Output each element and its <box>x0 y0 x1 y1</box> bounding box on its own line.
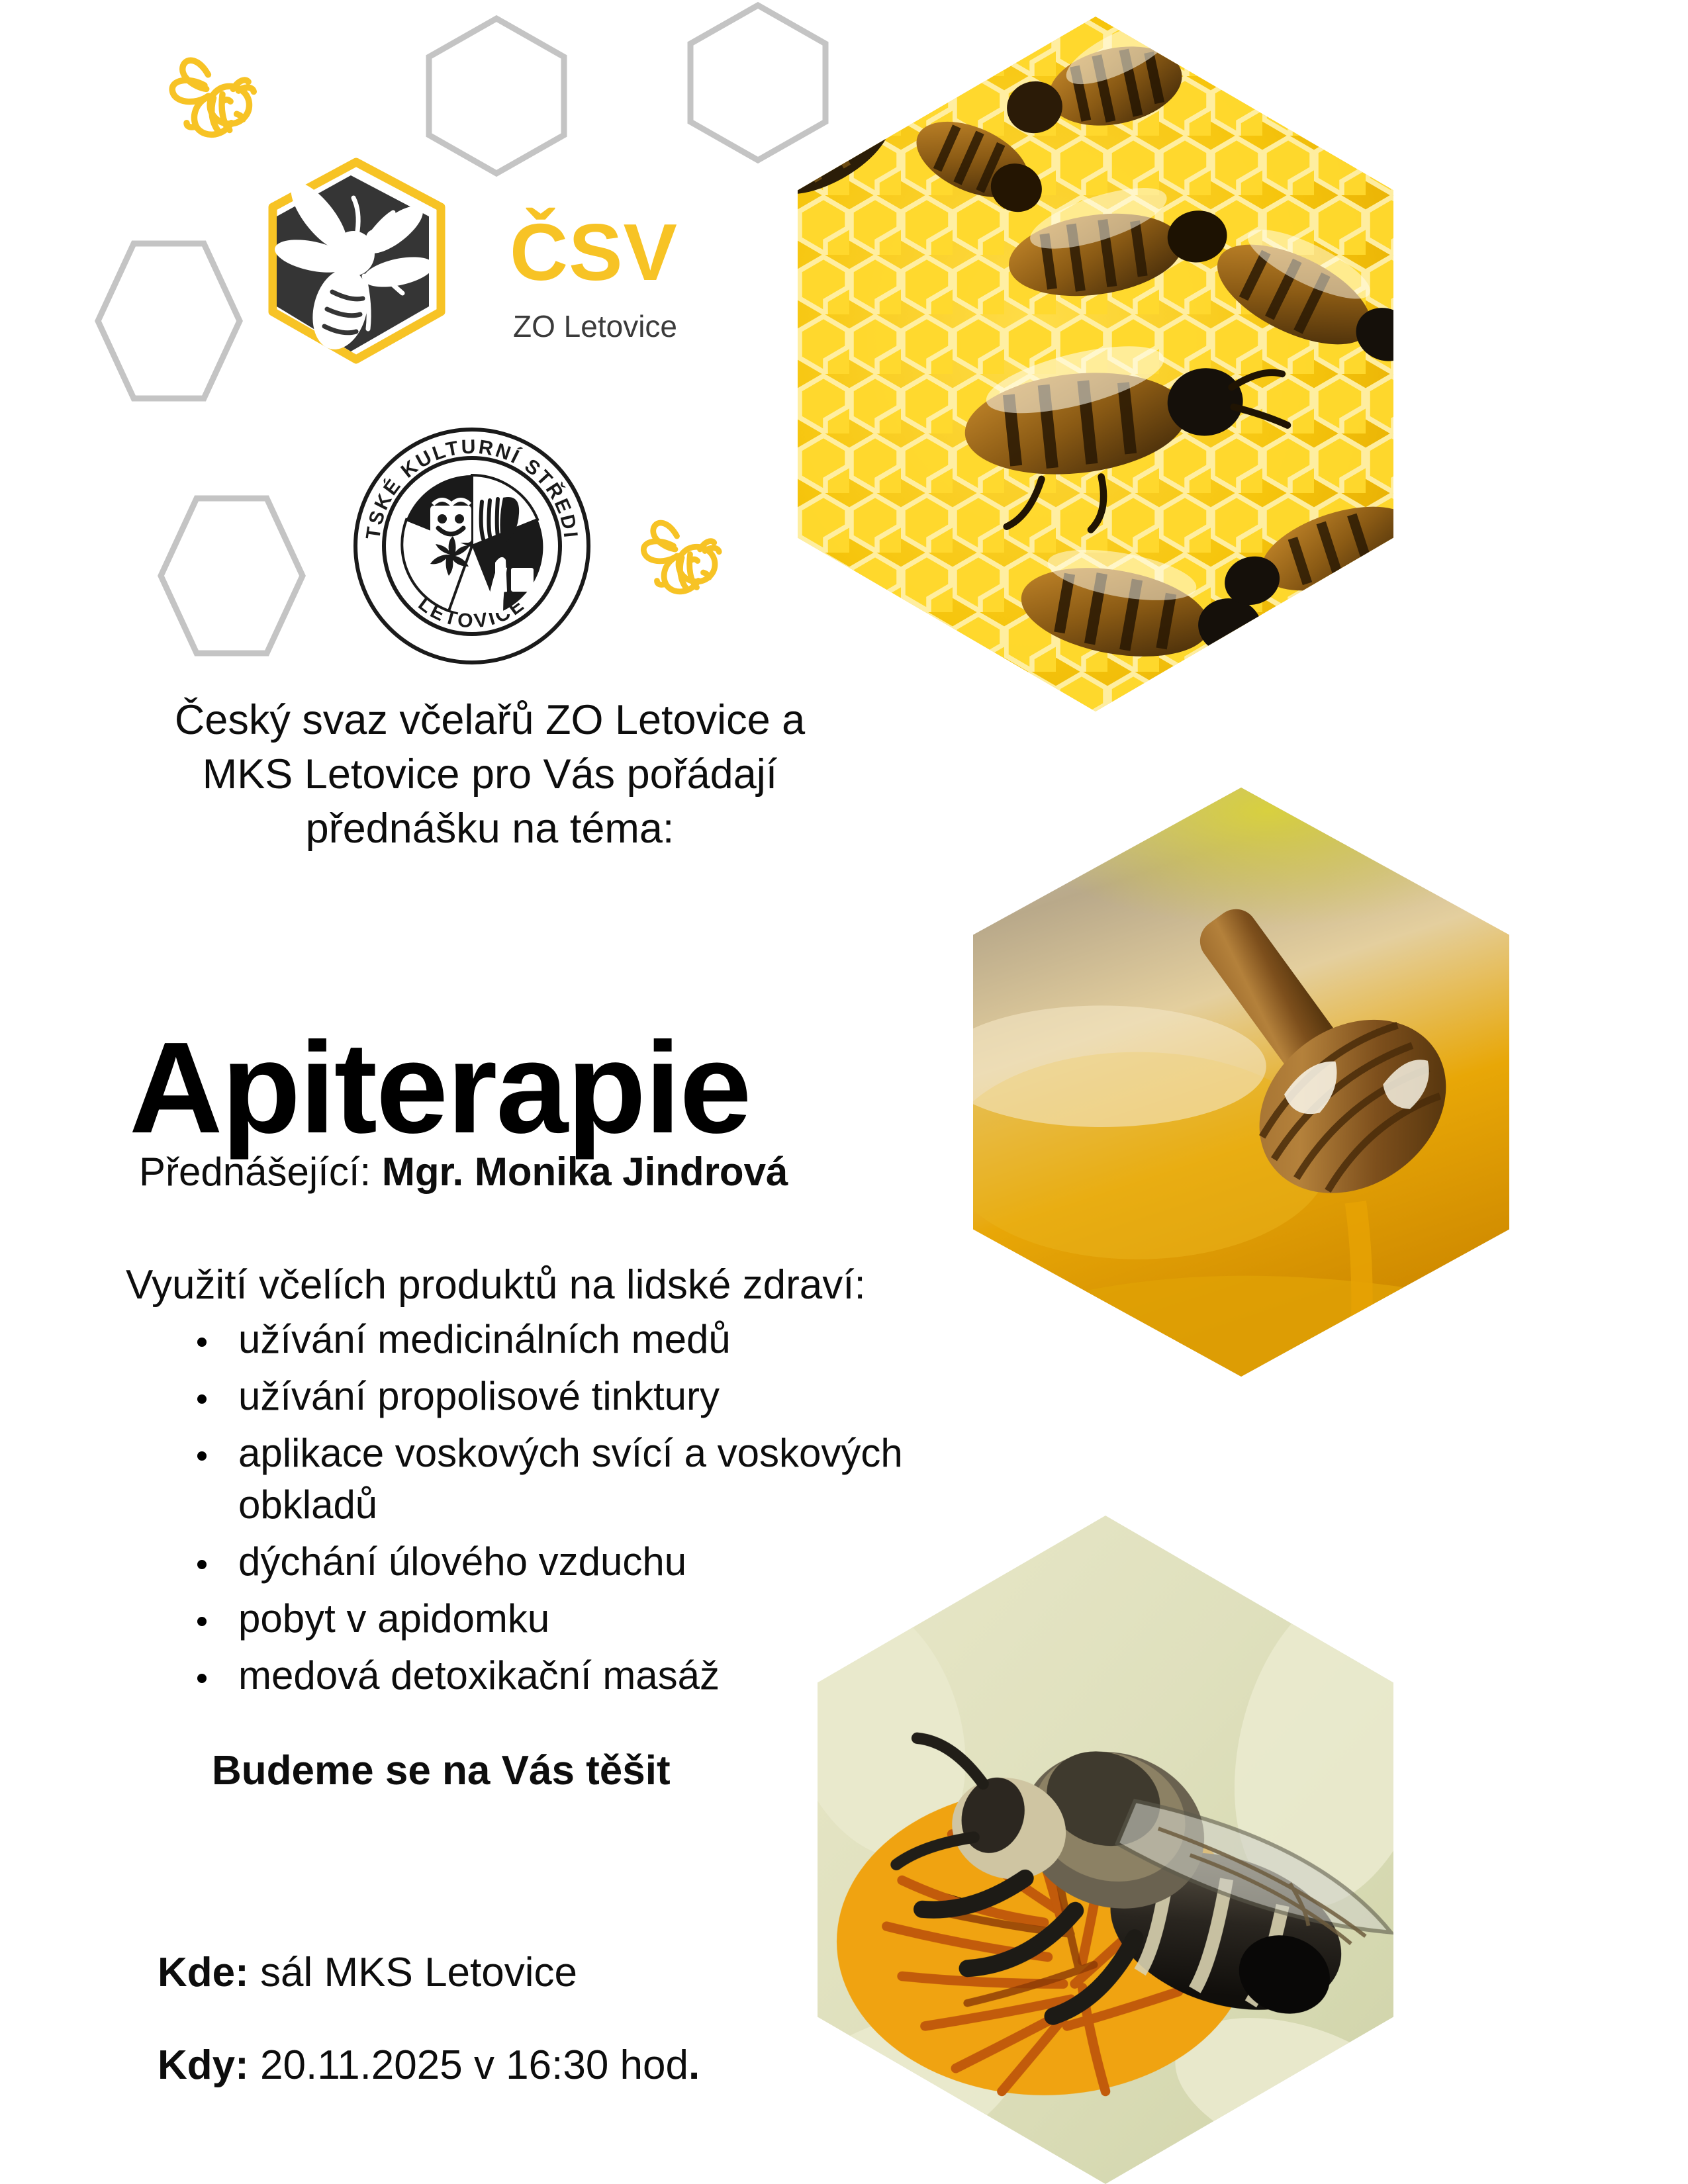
intro-line-2: MKS Letovice pro Vás pořádají <box>152 748 827 802</box>
hexagon-outline-icon <box>685 0 831 165</box>
intro-line-1: Český svaz včelařů ZO Letovice a <box>152 694 827 748</box>
speaker-line: Přednášející: Mgr. Monika Jindrová <box>139 1148 788 1196</box>
intro-line-3: přednášku na téma: <box>152 802 827 856</box>
hexagon-outline-icon <box>93 238 245 404</box>
csv-wordmark: ČSV <box>510 212 678 293</box>
hexagon-outline-icon <box>156 493 308 659</box>
datetime-line: Kdy: 20.11.2025 v 16:30 hod. <box>158 2042 700 2089</box>
venue-label: Kde: <box>158 1950 249 1995</box>
benefits-list: užívání medicinálních medů užívání propo… <box>169 1314 1053 1707</box>
bees-on-honeycomb-photo <box>798 17 1393 711</box>
hexagon-outline-icon <box>424 13 569 179</box>
list-item: pobyt v apidomku <box>238 1593 1053 1645</box>
honey-dipper-photo <box>973 788 1509 1377</box>
list-item: aplikace voskových svící a voskových obk… <box>238 1428 1053 1531</box>
content-lead: Využití včelích produktů na lidské zdrav… <box>126 1261 866 1310</box>
speaker-label: Přednášející: <box>139 1150 371 1194</box>
datetime-period: . <box>688 2042 700 2088</box>
page-title: Apiterapie <box>129 1023 750 1153</box>
datetime-label: Kdy: <box>158 2042 249 2088</box>
list-item: užívání propolisové tinktury <box>238 1371 1053 1422</box>
list-item: užívání medicinálních medů <box>238 1314 1053 1365</box>
list-item: dýchání úlového vzduchu <box>238 1536 1053 1588</box>
mks-letovice-seal: MĚSTSKÉ KULTURNÍ STŘEDISKO LETOVICE <box>350 424 594 668</box>
speaker-name: Mgr. Monika Jindrová <box>382 1150 788 1194</box>
closing-message: Budeme se na Vás těšit <box>212 1747 671 1794</box>
bee-doodle-icon <box>159 50 268 139</box>
datetime-value: 20.11.2025 v 16:30 hod <box>260 2042 688 2088</box>
venue-line: Kde: sál MKS Letovice <box>158 1949 577 1996</box>
intro-paragraph: Český svaz včelařů ZO Letovice a MKS Let… <box>152 694 827 856</box>
bee-doodle-icon <box>632 513 731 596</box>
list-item: medová detoxikační masáž <box>238 1650 1053 1702</box>
csv-subtitle: ZO Letovice <box>513 311 677 341</box>
poster-canvas: ČSV ZO Letovice MĚSTSKÉ KULTURNÍ STŘEDIS… <box>0 0 1688 2184</box>
csv-bee-hexagon-logo <box>258 156 450 367</box>
venue-value: sál MKS Letovice <box>260 1950 577 1995</box>
